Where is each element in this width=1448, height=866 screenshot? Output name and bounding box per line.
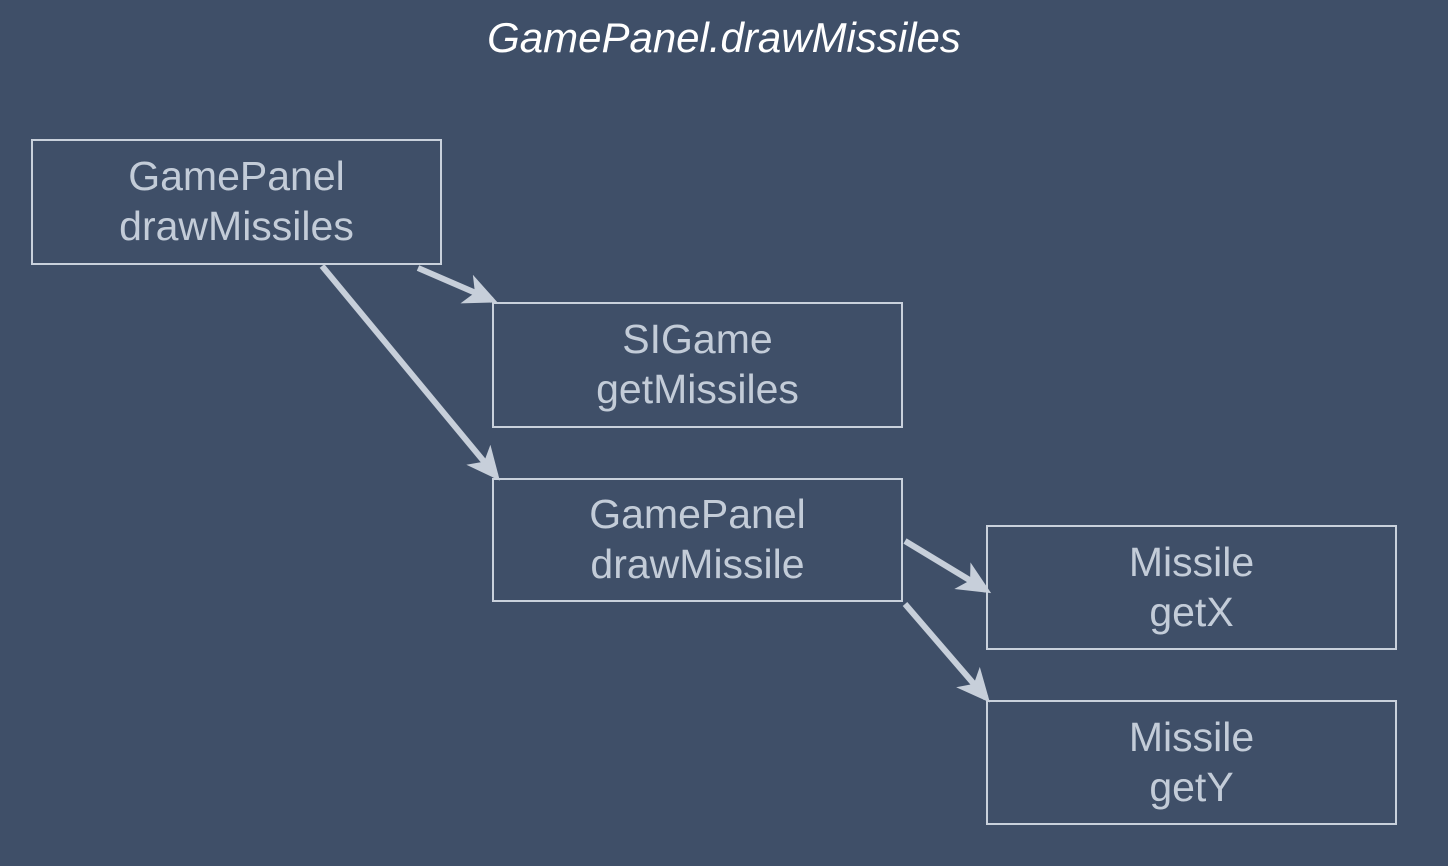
diagram-canvas: GamePanel.drawMissiles GamePanel drawMis… [0,0,1448,866]
node-class-name: Missile [1129,539,1254,587]
node-sigame-getmissiles[interactable]: SIGame getMissiles [492,302,903,428]
node-method-name: getX [1149,589,1233,637]
node-method-name: getMissiles [596,366,799,414]
node-method-name: drawMissile [590,541,804,589]
edge-drawmissile-to-getx [905,541,986,590]
node-class-name: GamePanel [589,491,806,539]
edge-drawmissiles-to-getmissiles [418,268,492,300]
diagram-title: GamePanel.drawMissiles [0,14,1448,62]
node-method-name: getY [1149,764,1233,812]
node-class-name: SIGame [622,316,772,364]
edge-drawmissile-to-gety [905,604,986,698]
node-missile-getx[interactable]: Missile getX [986,525,1397,650]
node-gamepanel-drawmissiles[interactable]: GamePanel drawMissiles [31,139,442,265]
node-missile-gety[interactable]: Missile getY [986,700,1397,825]
edge-drawmissiles-to-drawmissile [322,266,496,476]
node-class-name: GamePanel [128,153,345,201]
node-gamepanel-drawmissile[interactable]: GamePanel drawMissile [492,478,903,602]
node-class-name: Missile [1129,714,1254,762]
node-method-name: drawMissiles [119,203,354,251]
